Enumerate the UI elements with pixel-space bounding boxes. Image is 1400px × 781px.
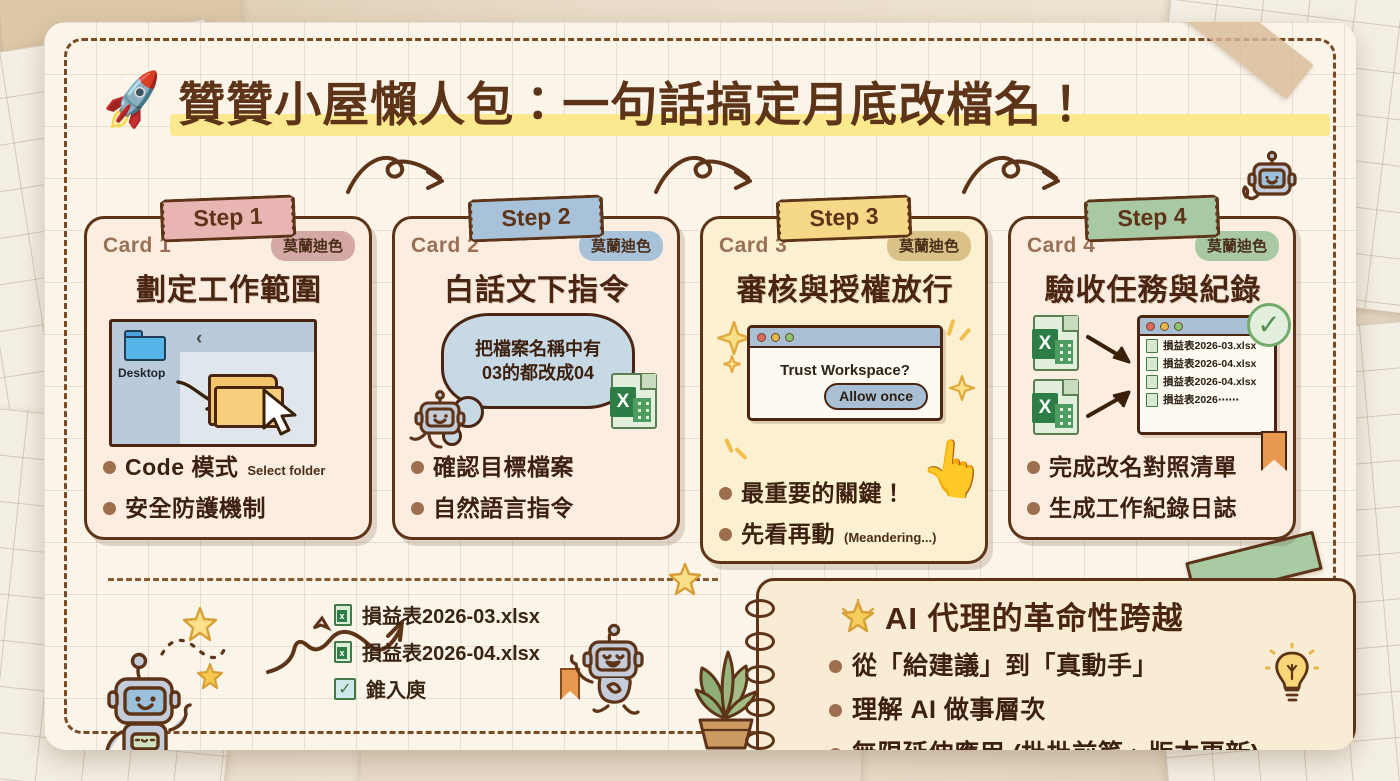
- bottom-file-name: 損益表2026-04.xlsx: [362, 637, 540, 666]
- bottom-file-name: 錐入庾: [366, 674, 426, 703]
- mouse-cursor-icon: [260, 388, 306, 440]
- bottom-file-name: 損益表2026-03.xlsx: [362, 600, 540, 629]
- page-title-row: 🚀 贊贊小屋懶人包：一句話搞定月底改檔名！: [102, 66, 1090, 135]
- speech-bubble-text: 把檔案名稱中有 03的都改成04: [475, 337, 601, 386]
- card-3-illustration: Trust Workspace? Allow once 👆: [719, 315, 971, 475]
- summary-panel: AI 代理的革命性跨越 從「給建議」到「真動手」 理解 AI 做事層次 無限延伸…: [756, 578, 1356, 750]
- bullet-dot: [829, 704, 842, 717]
- connector-arrow-3: [960, 148, 1070, 198]
- panel-bullet-3: 無限延伸應用 (批批前篇、版本更新): [829, 734, 1331, 750]
- excel-file-icon: [334, 604, 352, 626]
- card-1-illustration: ‹ Desktop: [103, 315, 355, 457]
- summary-panel-title: AI 代理的革命性跨越: [885, 593, 1184, 638]
- bottom-file-row[interactable]: ✓ 錐入庾: [334, 674, 540, 703]
- card-3-bullet-2-sub: (Meandering...): [844, 530, 936, 545]
- card-3-bullet-2-text: 先看再動: [741, 515, 835, 549]
- ring: [745, 665, 775, 684]
- file-row[interactable]: 損益表2026-04.xlsx: [1140, 354, 1274, 372]
- robot-mascot-icon: [92, 642, 208, 750]
- motion-tick: [724, 438, 734, 453]
- card-1-bullet-1-text: Code 模式: [125, 448, 238, 482]
- card-3-title: 審核與授權放行: [719, 265, 971, 309]
- card-2-title: 白話文下指令: [411, 265, 663, 309]
- sparkle-icon: [717, 321, 751, 355]
- card-3[interactable]: Step 3 Card 3 莫蘭迪色 審核與授權放行: [700, 216, 988, 564]
- card-4-bullet-2: 生成工作紀錄日誌: [1027, 489, 1283, 523]
- sparkle-icon: [723, 355, 741, 373]
- close-icon[interactable]: [1146, 322, 1155, 331]
- card-2-bullet-1-text: 確認目標檔案: [433, 448, 574, 482]
- bottom-file-row[interactable]: 損益表2026-03.xlsx: [334, 600, 540, 629]
- card-4-bullet-1: 完成改名對照清單: [1027, 448, 1283, 482]
- bottom-file-list: 損益表2026-03.xlsx 損益表2026-04.xlsx ✓ 錐入庾: [334, 600, 540, 711]
- speech-line-2: 03的都改成04: [482, 363, 594, 383]
- panel-bullet-2: 理解 AI 做事層次: [829, 690, 1331, 726]
- step-tab-3[interactable]: Step 3: [776, 194, 913, 242]
- file-row[interactable]: 損益表2026⋯⋯: [1140, 390, 1274, 408]
- arrow-right-icon: [1085, 333, 1135, 367]
- main-note-card: 🚀 贊贊小屋懶人包：一句話搞定月底改檔名！: [44, 22, 1356, 750]
- ring: [745, 599, 775, 618]
- card-1-bullet-1-sub: Select folder: [247, 463, 325, 478]
- excel-file-icon: X: [1033, 379, 1079, 435]
- card-2[interactable]: Step 2 Card 2 莫蘭迪色 白話文下指令 把檔案名稱中有 03的都改成…: [392, 216, 680, 540]
- file-name: 損益表2026-04.xlsx: [1163, 374, 1256, 389]
- card-2-illustration: 把檔案名稱中有 03的都改成04: [411, 315, 663, 457]
- card-3-bullets: 最重要的關鍵！ 先看再動 (Meandering...): [719, 467, 975, 549]
- file-row[interactable]: 損益表2026-04.xlsx: [1140, 372, 1274, 390]
- trust-dialog: Trust Workspace? Allow once: [747, 325, 943, 421]
- panel-bullet-3-text: 無限延伸應用 (批批前篇、版本更新): [852, 734, 1260, 750]
- minimize-icon[interactable]: [1160, 322, 1169, 331]
- file-name: 損益表2026-03.xlsx: [1163, 338, 1256, 353]
- speech-line-1: 把檔案名稱中有: [475, 339, 601, 359]
- bullet-dot: [829, 660, 842, 673]
- minimize-icon[interactable]: [771, 333, 780, 342]
- lightbulb-icon: [1265, 643, 1319, 705]
- card-3-bullet-2: 先看再動 (Meandering...): [719, 515, 975, 549]
- card-2-bullets: 確認目標檔案 自然語言指令: [411, 441, 667, 523]
- card-4-bullets: 完成改名對照清單 生成工作紀錄日誌: [1027, 441, 1283, 523]
- washi-tape-top-right: [1168, 22, 1313, 100]
- file-name: 損益表2026-04.xlsx: [1163, 356, 1256, 371]
- card-4-illustration: X X: [1027, 315, 1279, 457]
- panel-bullet-1-text: 從「給建議」到「真動手」: [852, 646, 1158, 682]
- bullet-dot: [411, 461, 424, 474]
- desktop-folder-icon: [124, 330, 166, 361]
- card-3-bullet-1-text: 最重要的關鍵！: [741, 474, 906, 508]
- card-row: Step 1 Card 1 莫蘭迪色 劃定工作範圍 ‹ Desktop: [84, 194, 1320, 560]
- bullet-dot: [411, 502, 424, 515]
- motion-tick: [734, 447, 747, 460]
- card-1-number: Card 1: [103, 234, 171, 258]
- finder-sidebar-label: Desktop: [118, 366, 165, 380]
- excel-file-icon: X: [611, 373, 657, 429]
- excel-file-icon: [1146, 375, 1158, 389]
- spiral-rings: [745, 599, 775, 750]
- excel-file-icon: [1146, 393, 1158, 407]
- step-tab-4[interactable]: Step 4: [1084, 194, 1221, 242]
- excel-file-icon: [1146, 339, 1158, 353]
- page-title: 贊贊小屋懶人包：一句話搞定月底改檔名！: [178, 66, 1090, 135]
- card-4-title: 驗收任務與紀錄: [1027, 265, 1279, 309]
- maximize-icon[interactable]: [1174, 322, 1183, 331]
- panel-bullet-2-text: 理解 AI 做事層次: [852, 690, 1046, 726]
- dialog-titlebar: [750, 328, 940, 348]
- dialog-message: Trust Workspace?: [750, 362, 940, 379]
- step-tab-1[interactable]: Step 1: [160, 194, 297, 242]
- card-1-bullet-2: 安全防護機制: [103, 489, 359, 523]
- step-tab-2[interactable]: Step 2: [468, 194, 605, 242]
- star-icon: [182, 606, 218, 642]
- card-2-bullet-2: 自然語言指令: [411, 489, 667, 523]
- check-circle-icon: ✓: [1247, 303, 1291, 347]
- checkbox-checked-icon[interactable]: ✓: [334, 678, 356, 700]
- allow-once-button[interactable]: Allow once: [824, 383, 928, 410]
- motion-tick: [959, 327, 972, 341]
- card-3-bullet-1: 最重要的關鍵！: [719, 474, 975, 508]
- bullet-dot: [1027, 502, 1040, 515]
- card-2-number: Card 2: [411, 234, 479, 258]
- panel-bullet-1: 從「給建議」到「真動手」: [829, 646, 1331, 682]
- excel-file-icon: [1146, 357, 1158, 371]
- excel-file-icon: X: [1033, 315, 1079, 371]
- card-4-bullet-2-text: 生成工作紀錄日誌: [1049, 489, 1237, 523]
- ring: [745, 731, 775, 750]
- infographic-stage: 🚀 贊贊小屋懶人包：一句話搞定月底改檔名！: [0, 0, 1400, 781]
- ring: [745, 632, 775, 651]
- card-4-number: Card 4: [1027, 234, 1095, 258]
- connector-arrow-1: [344, 148, 454, 198]
- finder-window: ‹ Desktop: [109, 319, 317, 447]
- bullet-dot: [1027, 461, 1040, 474]
- card-1-bullets: Code 模式 Select folder 安全防護機制: [103, 441, 359, 523]
- bullet-dot: [829, 748, 842, 750]
- card-1-bullet-1: Code 模式 Select folder: [103, 448, 359, 482]
- back-chevron-icon[interactable]: ‹: [196, 328, 202, 350]
- arrow-right-icon: [1085, 387, 1135, 421]
- bullet-dot: [719, 528, 732, 541]
- section-divider: [108, 578, 718, 581]
- card-1[interactable]: Step 1 Card 1 莫蘭迪色 劃定工作範圍 ‹ Desktop: [84, 216, 372, 540]
- bullet-dot: [103, 461, 116, 474]
- bottom-file-row[interactable]: 損益表2026-04.xlsx: [334, 637, 540, 666]
- card-1-bullet-2-text: 安全防護機制: [125, 489, 266, 523]
- bullet-dot: [719, 487, 732, 500]
- summary-panel-title-row: AI 代理的革命性跨越: [841, 593, 1331, 638]
- sparkle-icon: [949, 375, 975, 401]
- excel-file-icon: [334, 641, 352, 663]
- rocket-icon: 🚀: [99, 71, 168, 129]
- motion-tick: [946, 319, 955, 336]
- connector-arrow-2: [652, 148, 762, 198]
- file-name: 損益表2026⋯⋯: [1163, 392, 1239, 407]
- card-2-bullet-1: 確認目標檔案: [411, 448, 667, 482]
- maximize-icon[interactable]: [785, 333, 794, 342]
- ring: [745, 698, 775, 717]
- close-icon[interactable]: [757, 333, 766, 342]
- star-icon: [841, 599, 875, 633]
- bullet-dot: [103, 502, 116, 515]
- robot-mascot-icon: [564, 622, 668, 724]
- card-1-title: 劃定工作範圍: [103, 265, 355, 309]
- card-3-number: Card 3: [719, 234, 787, 258]
- card-2-bullet-2-text: 自然語言指令: [433, 489, 574, 523]
- card-4-bullet-1-text: 完成改名對照清單: [1049, 448, 1237, 482]
- card-4[interactable]: Step 4 Card 4 莫蘭迪色 驗收任務與紀錄 X: [1008, 216, 1296, 540]
